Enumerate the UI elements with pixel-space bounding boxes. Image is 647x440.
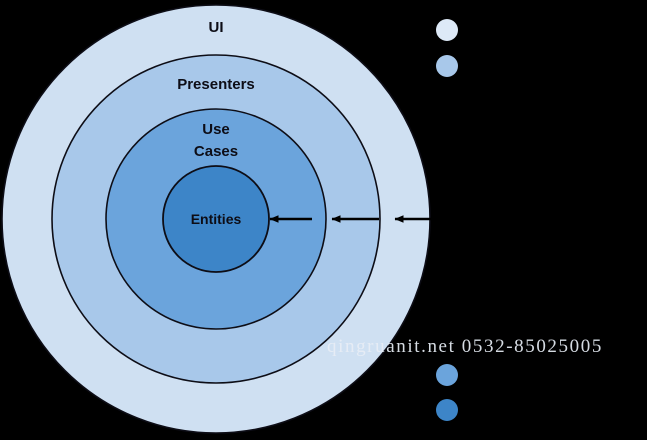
watermark-label: qingruanit.net 0532-85025005	[327, 336, 603, 357]
label-entities: Entities	[191, 211, 242, 227]
label-presenters: Presenters	[177, 76, 255, 93]
dot-ui-icon	[436, 19, 458, 41]
label-use-cases-line2: Cases	[194, 143, 238, 160]
dot-entities-icon	[436, 399, 458, 421]
label-ui: UI	[209, 19, 224, 36]
dot-use-cases-icon	[436, 364, 458, 386]
clean-architecture-diagram: UI Presenters Use Cases Entities qingrua…	[0, 0, 647, 440]
diagram-canvas: UI Presenters Use Cases Entities qingrua…	[0, 0, 647, 440]
dot-presenters-icon	[436, 55, 458, 77]
label-use-cases-line1: Use	[202, 121, 230, 138]
